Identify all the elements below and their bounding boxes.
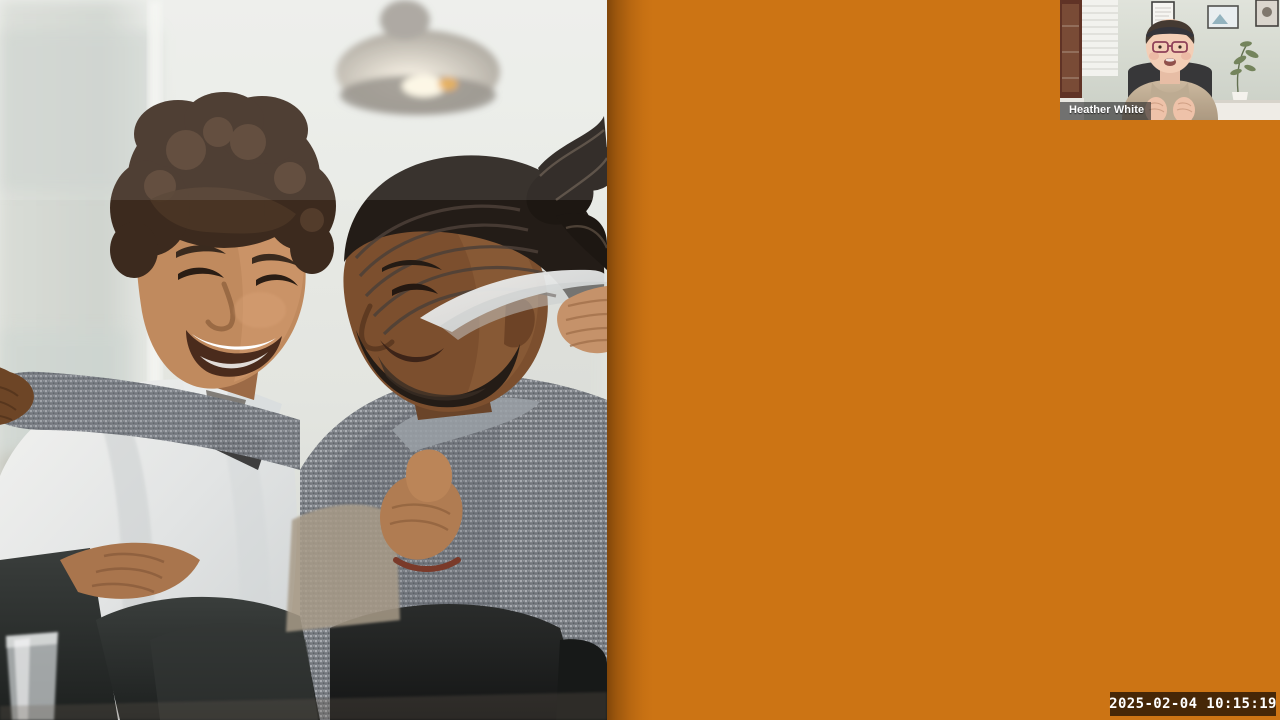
webcam-pip[interactable]: Heather White (1060, 0, 1280, 120)
speaker-name-label: Heather White (1060, 102, 1151, 120)
recording-timestamp: 2025-02-04 10:15:19 (1110, 692, 1276, 716)
slide-photo (0, 0, 607, 720)
photo-illustration (0, 0, 607, 720)
slide-quote-text: Sensitive periods can help us as adults … (1247, 120, 1280, 643)
presentation-screen: Sensitive periods can help us as adults … (0, 0, 1280, 720)
